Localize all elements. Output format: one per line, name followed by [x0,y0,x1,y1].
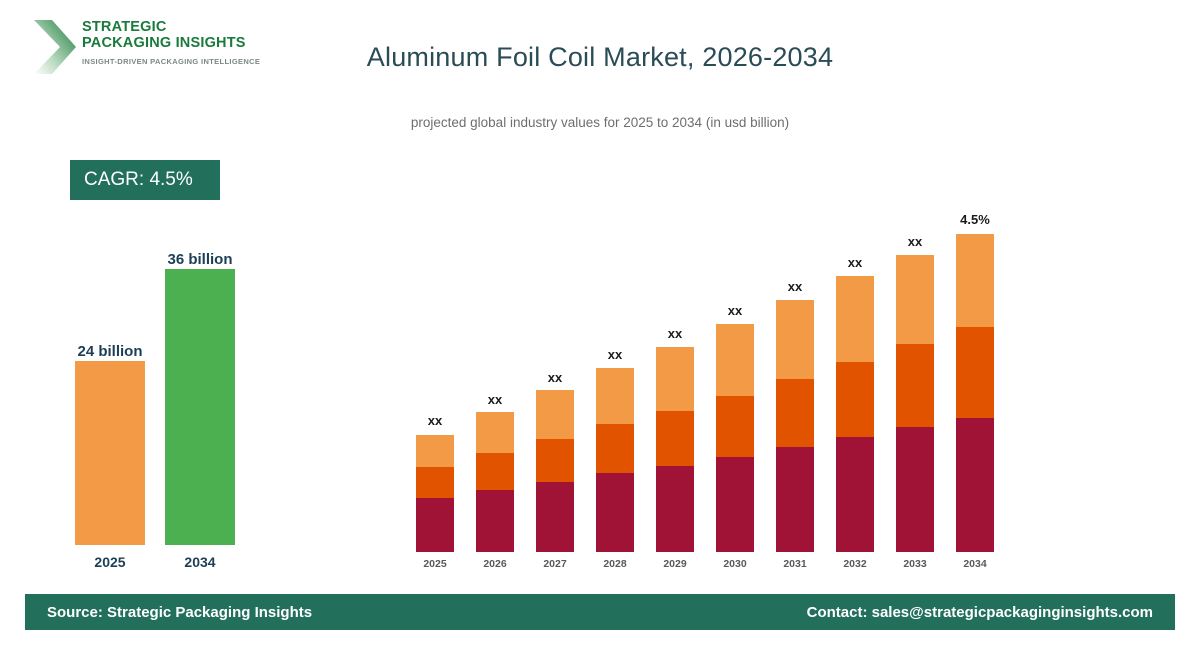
forecast-bar-segment[interactable] [776,447,814,552]
forecast-bar-segment[interactable] [836,276,874,362]
forecast-bar-segment[interactable] [776,379,814,447]
forecast-bar-year-label: 2034 [956,558,994,570]
forecast-stacked-bar[interactable] [536,390,574,552]
forecast-bar-group: xx2033 [896,255,934,570]
footer-bar: Source: Strategic Packaging Insights Con… [25,594,1175,630]
forecast-bar-value-label: xx [450,392,540,407]
forecast-bar-value-label: xx [810,255,900,270]
forecast-stacked-bar[interactable] [776,300,814,552]
forecast-bar-segment[interactable] [956,327,994,418]
forecast-bar-value-label: xx [570,347,660,362]
comparison-bar[interactable] [75,361,145,545]
forecast-bar-segment[interactable] [596,473,634,552]
forecast-bar-value-label: xx [750,279,840,294]
forecast-bar-group: xx2026 [476,412,514,570]
forecast-bar-value-label: xx [870,234,960,249]
footer-source: Source: Strategic Packaging Insights [47,604,312,621]
forecast-bar-year-label: 2033 [896,558,934,570]
forecast-bar-group: 4.5%2034 [956,234,994,570]
forecast-bar-year-label: 2029 [656,558,694,570]
forecast-bar-year-label: 2026 [476,558,514,570]
forecast-bar-group: xx2031 [776,300,814,570]
forecast-bar-segment[interactable] [776,300,814,379]
page-title: Aluminum Foil Coil Market, 2026-2034 [0,42,1200,73]
forecast-stacked-bar[interactable] [416,435,454,552]
forecast-stacked-bar[interactable] [476,412,514,552]
forecast-bar-year-label: 2032 [836,558,874,570]
forecast-bar-segment[interactable] [536,390,574,439]
footer-contact[interactable]: Contact: sales@strategicpackaginginsight… [807,604,1153,621]
forecast-bar-segment[interactable] [836,362,874,437]
forecast-bar-segment[interactable] [476,412,514,453]
comparison-bar-year-label: 2025 [75,554,145,570]
forecast-bar-segment[interactable] [536,482,574,552]
forecast-bar-segment[interactable] [476,453,514,490]
forecast-bar-segment[interactable] [656,411,694,466]
forecast-bar-value-label: xx [510,370,600,385]
forecast-bar-group: xx2032 [836,276,874,570]
comparison-bar-year-label: 2034 [165,554,235,570]
forecast-bar-segment[interactable] [956,234,994,327]
forecast-bar-year-label: 2030 [716,558,754,570]
forecast-bar-segment[interactable] [716,396,754,457]
forecast-bar-value-label: xx [630,326,720,341]
segmented-forecast-chart: xx2025xx2026xx2027xx2028xx2029xx2030xx20… [400,190,1020,570]
forecast-bar-segment[interactable] [896,344,934,427]
forecast-bar-segment[interactable] [716,457,754,552]
forecast-bar-segment[interactable] [596,368,634,424]
cagr-badge: CAGR: 4.5% [70,160,220,200]
comparison-bar-value-label: 24 billion [35,343,185,360]
forecast-bar-segment[interactable] [656,347,694,411]
comparison-bar[interactable] [165,269,235,545]
forecast-bar-group: xx2030 [716,324,754,570]
forecast-bar-segment[interactable] [896,255,934,344]
forecast-bar-group: xx2025 [416,435,454,570]
forecast-bar-year-label: 2025 [416,558,454,570]
forecast-stacked-bar[interactable] [596,368,634,552]
forecast-stacked-bar[interactable] [896,255,934,552]
forecast-bar-year-label: 2028 [596,558,634,570]
comparison-bar-group: 36 billion2034 [165,269,235,570]
forecast-bar-year-label: 2027 [536,558,574,570]
forecast-bar-segment[interactable] [476,490,514,552]
forecast-bar-group: xx2028 [596,368,634,570]
page-subtitle: projected global industry values for 202… [0,115,1200,130]
forecast-bar-value-label: 4.5% [930,212,1020,227]
forecast-bar-segment[interactable] [416,498,454,552]
forecast-bar-group: xx2029 [656,347,694,570]
forecast-bar-value-label: xx [690,303,780,318]
forecast-bar-segment[interactable] [596,424,634,473]
forecast-bar-segment[interactable] [716,324,754,396]
forecast-bar-segment[interactable] [536,439,574,482]
forecast-bar-value-label: xx [390,413,480,428]
forecast-bar-segment[interactable] [956,418,994,552]
market-size-comparison-chart: 24 billion202536 billion2034 [40,230,300,570]
forecast-bar-segment[interactable] [896,427,934,552]
forecast-stacked-bar[interactable] [656,347,694,552]
forecast-stacked-bar[interactable] [956,234,994,552]
forecast-bar-segment[interactable] [416,435,454,467]
comparison-bar-value-label: 36 billion [125,251,275,268]
forecast-bar-year-label: 2031 [776,558,814,570]
forecast-bar-segment[interactable] [656,466,694,552]
forecast-stacked-bar[interactable] [716,324,754,552]
forecast-bar-group: xx2027 [536,390,574,570]
forecast-bar-segment[interactable] [836,437,874,552]
comparison-bar-group: 24 billion2025 [75,361,145,570]
forecast-stacked-bar[interactable] [836,276,874,552]
forecast-bar-segment[interactable] [416,467,454,498]
brand-name-line1: STRATEGIC [82,20,260,36]
